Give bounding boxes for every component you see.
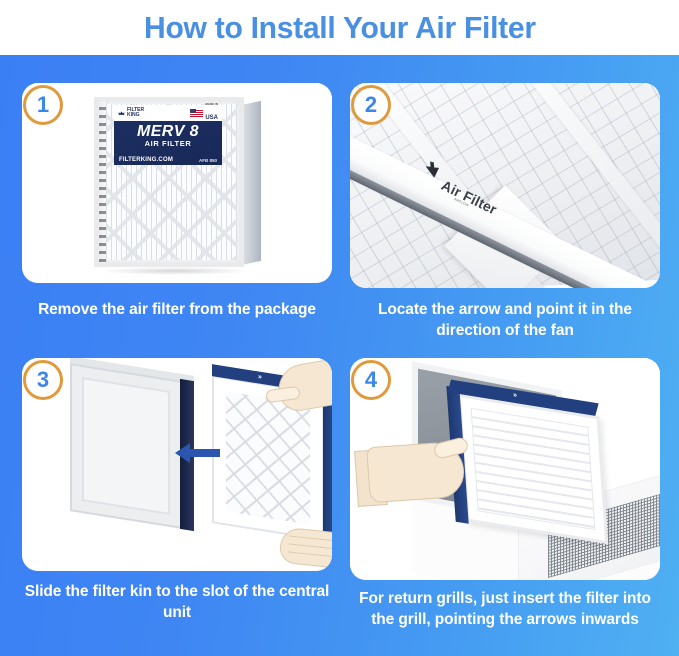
- usa-text: USA: [205, 115, 218, 121]
- brand-text: FILTER KING: [127, 108, 144, 119]
- infographic-stage: FILTER KING MADE IN USA MERV 8: [0, 55, 679, 656]
- made-in-usa-text: MADE IN USA: [205, 102, 218, 124]
- step-card-3: »: [22, 358, 332, 571]
- central-unit-panel: [82, 377, 170, 515]
- label-footer-strip: FILTERKING.COM AFB 850: [114, 157, 222, 163]
- made-in-usa-badge: MADE IN USA: [190, 102, 218, 124]
- crown-icon: [118, 110, 125, 117]
- step-card-2: Air Filter AIRFLOW: [350, 83, 660, 288]
- central-unit-body: [70, 363, 182, 529]
- step-2-image: Air Filter AIRFLOW: [350, 83, 660, 288]
- step-badge-2: 2: [351, 85, 391, 125]
- step-badge-1: 1: [23, 85, 63, 125]
- filter-product-label: FILTER KING MADE IN USA MERV 8: [114, 105, 222, 165]
- website-text: FILTERKING.COM: [119, 157, 173, 163]
- step-1-image: FILTER KING MADE IN USA MERV 8: [22, 83, 332, 283]
- step-caption-3: Slide the filter kin to the slot of the …: [22, 582, 332, 623]
- step-card-4: »: [350, 358, 660, 580]
- filter-clip-marks: [99, 107, 106, 265]
- title-bar: How to Install Your Air Filter: [0, 0, 679, 55]
- step-number-2: 2: [365, 92, 377, 118]
- model-code-text: AFB 850: [199, 158, 217, 163]
- made-in-small-text: MADE IN: [205, 102, 218, 106]
- usa-flag-icon: [190, 109, 203, 117]
- step-badge-3: 3: [23, 360, 63, 400]
- step-caption-1: Remove the air filter from the package: [22, 300, 332, 321]
- step-3-image: »: [22, 358, 332, 571]
- grill-face: [458, 394, 608, 545]
- filter-arrow-mark: »: [513, 392, 516, 400]
- step-caption-4: For return grills, just insert the filte…: [350, 589, 660, 630]
- direction-arrow-icon: [174, 442, 220, 464]
- brand-line-2: KING: [127, 112, 140, 118]
- step-number-1: 1: [37, 92, 49, 118]
- filter-side-frame: [323, 385, 332, 539]
- grill-louvers: [471, 408, 596, 530]
- product-shadow: [100, 267, 250, 275]
- label-header-strip: FILTER KING MADE IN USA: [114, 105, 222, 121]
- page-title: How to Install Your Air Filter: [144, 10, 536, 46]
- product-type-text: AIR FILTER: [114, 139, 222, 148]
- return-grill-cover: »: [458, 394, 608, 545]
- filter-side-face: [241, 101, 261, 265]
- step-number-4: 4: [365, 367, 377, 393]
- step-badge-4: 4: [351, 360, 391, 400]
- air-filter-product: FILTER KING MADE IN USA MERV 8: [94, 97, 260, 267]
- filter-mesh-pattern: [226, 391, 310, 524]
- step-4-image: »: [350, 358, 660, 580]
- step-card-1: FILTER KING MADE IN USA MERV 8: [22, 83, 332, 283]
- step-number-3: 3: [37, 367, 49, 393]
- step-caption-2: Locate the arrow and point it in the dir…: [350, 300, 660, 341]
- filter-king-logo: FILTER KING: [118, 108, 144, 119]
